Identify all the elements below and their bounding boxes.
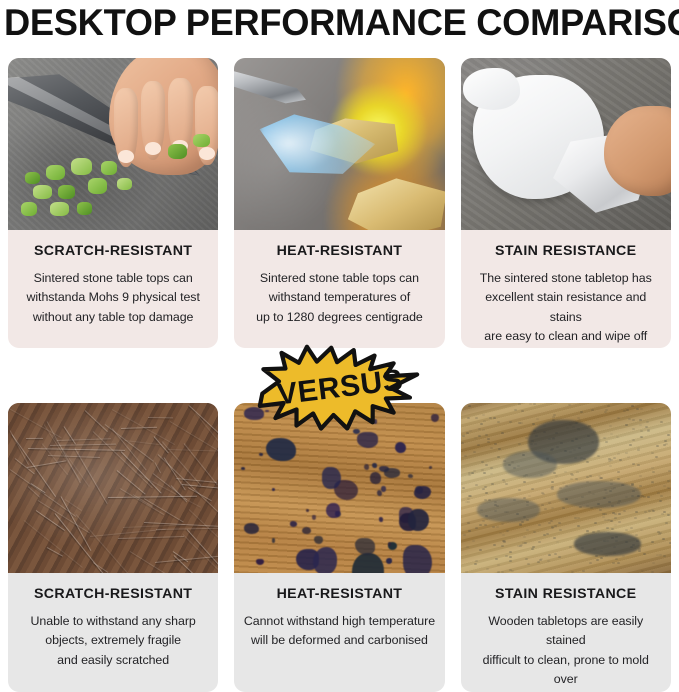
body-line: withstand temperatures of [243,288,435,308]
card-body: Wooden tabletops are easily stained diff… [470,612,662,692]
starburst-icon: VERSUS [250,340,430,432]
card-text-block: STAIN RESISTANCE The sintered stone tabl… [461,230,671,348]
body-line: will be deformed and carbonised [243,631,435,651]
top-row-sintered-stone: SCRATCH-RESISTANT Sintered stone table t… [0,58,679,348]
card-heading: STAIN RESISTANCE [470,587,662,603]
bottom-row-wooden-tabletop: SCRATCH-RESISTANT Unable to withstand an… [0,403,679,692]
image-moldy-wood [461,403,671,573]
card-top-heat-resistant[interactable]: HEAT-RESISTANT Sintered stone table tops… [226,58,452,348]
body-line: up to 1280 degrees centigrade [243,308,435,328]
page-title: DESKTOP PERFORMANCE COMPARISON [4,0,666,50]
body-line: Unable to withstand any sharp [17,612,209,632]
body-line: Cannot withstand high temperature [243,612,435,632]
body-line: without any table top damage [17,308,209,328]
body-line: objects, extremely fragile [17,631,209,651]
card-top-stain-resistance[interactable]: STAIN RESISTANCE The sintered stone tabl… [453,58,679,348]
image-blowtorch-flame-on-stone [234,58,444,230]
card-heading: STAIN RESISTANCE [470,244,662,260]
body-line: The sintered stone tabletop has [470,269,662,289]
card-text-block: SCRATCH-RESISTANT Unable to withstand an… [8,573,218,692]
card-text-block: HEAT-RESISTANT Sintered stone table tops… [234,230,444,348]
card-heading: HEAT-RESISTANT [243,587,435,603]
body-line: excellent stain resistance and stains [470,288,662,327]
versus-badge: VERSUS [250,340,430,432]
image-scratched-wood [8,403,218,573]
card-body: Sintered stone table tops can withstand … [243,269,435,328]
card-body: Unable to withstand any sharp objects, e… [17,612,209,671]
card-bottom-heat-resistant[interactable]: HEAT-RESISTANT Cannot withstand high tem… [226,403,452,692]
card-body: Cannot withstand high temperature will b… [243,612,435,651]
body-line: difficult to clean, prone to mold over [470,651,662,690]
card-heading: HEAT-RESISTANT [243,244,435,260]
card-text-block: STAIN RESISTANCE Wooden tabletops are ea… [461,573,671,692]
body-line: Sintered stone table tops can [243,269,435,289]
image-knife-cutting-vegetables [8,58,218,230]
body-line: Wooden tabletops are easily stained [470,612,662,651]
card-body: Sintered stone table tops can withstanda… [17,269,209,328]
card-text-block: SCRATCH-RESISTANT Sintered stone table t… [8,230,218,348]
card-bottom-stain-resistance[interactable]: STAIN RESISTANCE Wooden tabletops are ea… [453,403,679,692]
body-line: withstanda Mohs 9 physical test [17,288,209,308]
card-heading: SCRATCH-RESISTANT [17,587,209,603]
body-line: are easy to clean and wipe off [470,327,662,347]
card-bottom-scratch-resistant[interactable]: SCRATCH-RESISTANT Unable to withstand an… [0,403,226,692]
card-heading: SCRATCH-RESISTANT [17,244,209,260]
body-line: and easily scratched [17,651,209,671]
card-top-scratch-resistant[interactable]: SCRATCH-RESISTANT Sintered stone table t… [0,58,226,348]
card-body: The sintered stone tabletop has excellen… [470,269,662,347]
body-line: Sintered stone table tops can [17,269,209,289]
card-text-block: HEAT-RESISTANT Cannot withstand high tem… [234,573,444,692]
image-milk-spill-wiped-with-cloth [461,58,671,230]
